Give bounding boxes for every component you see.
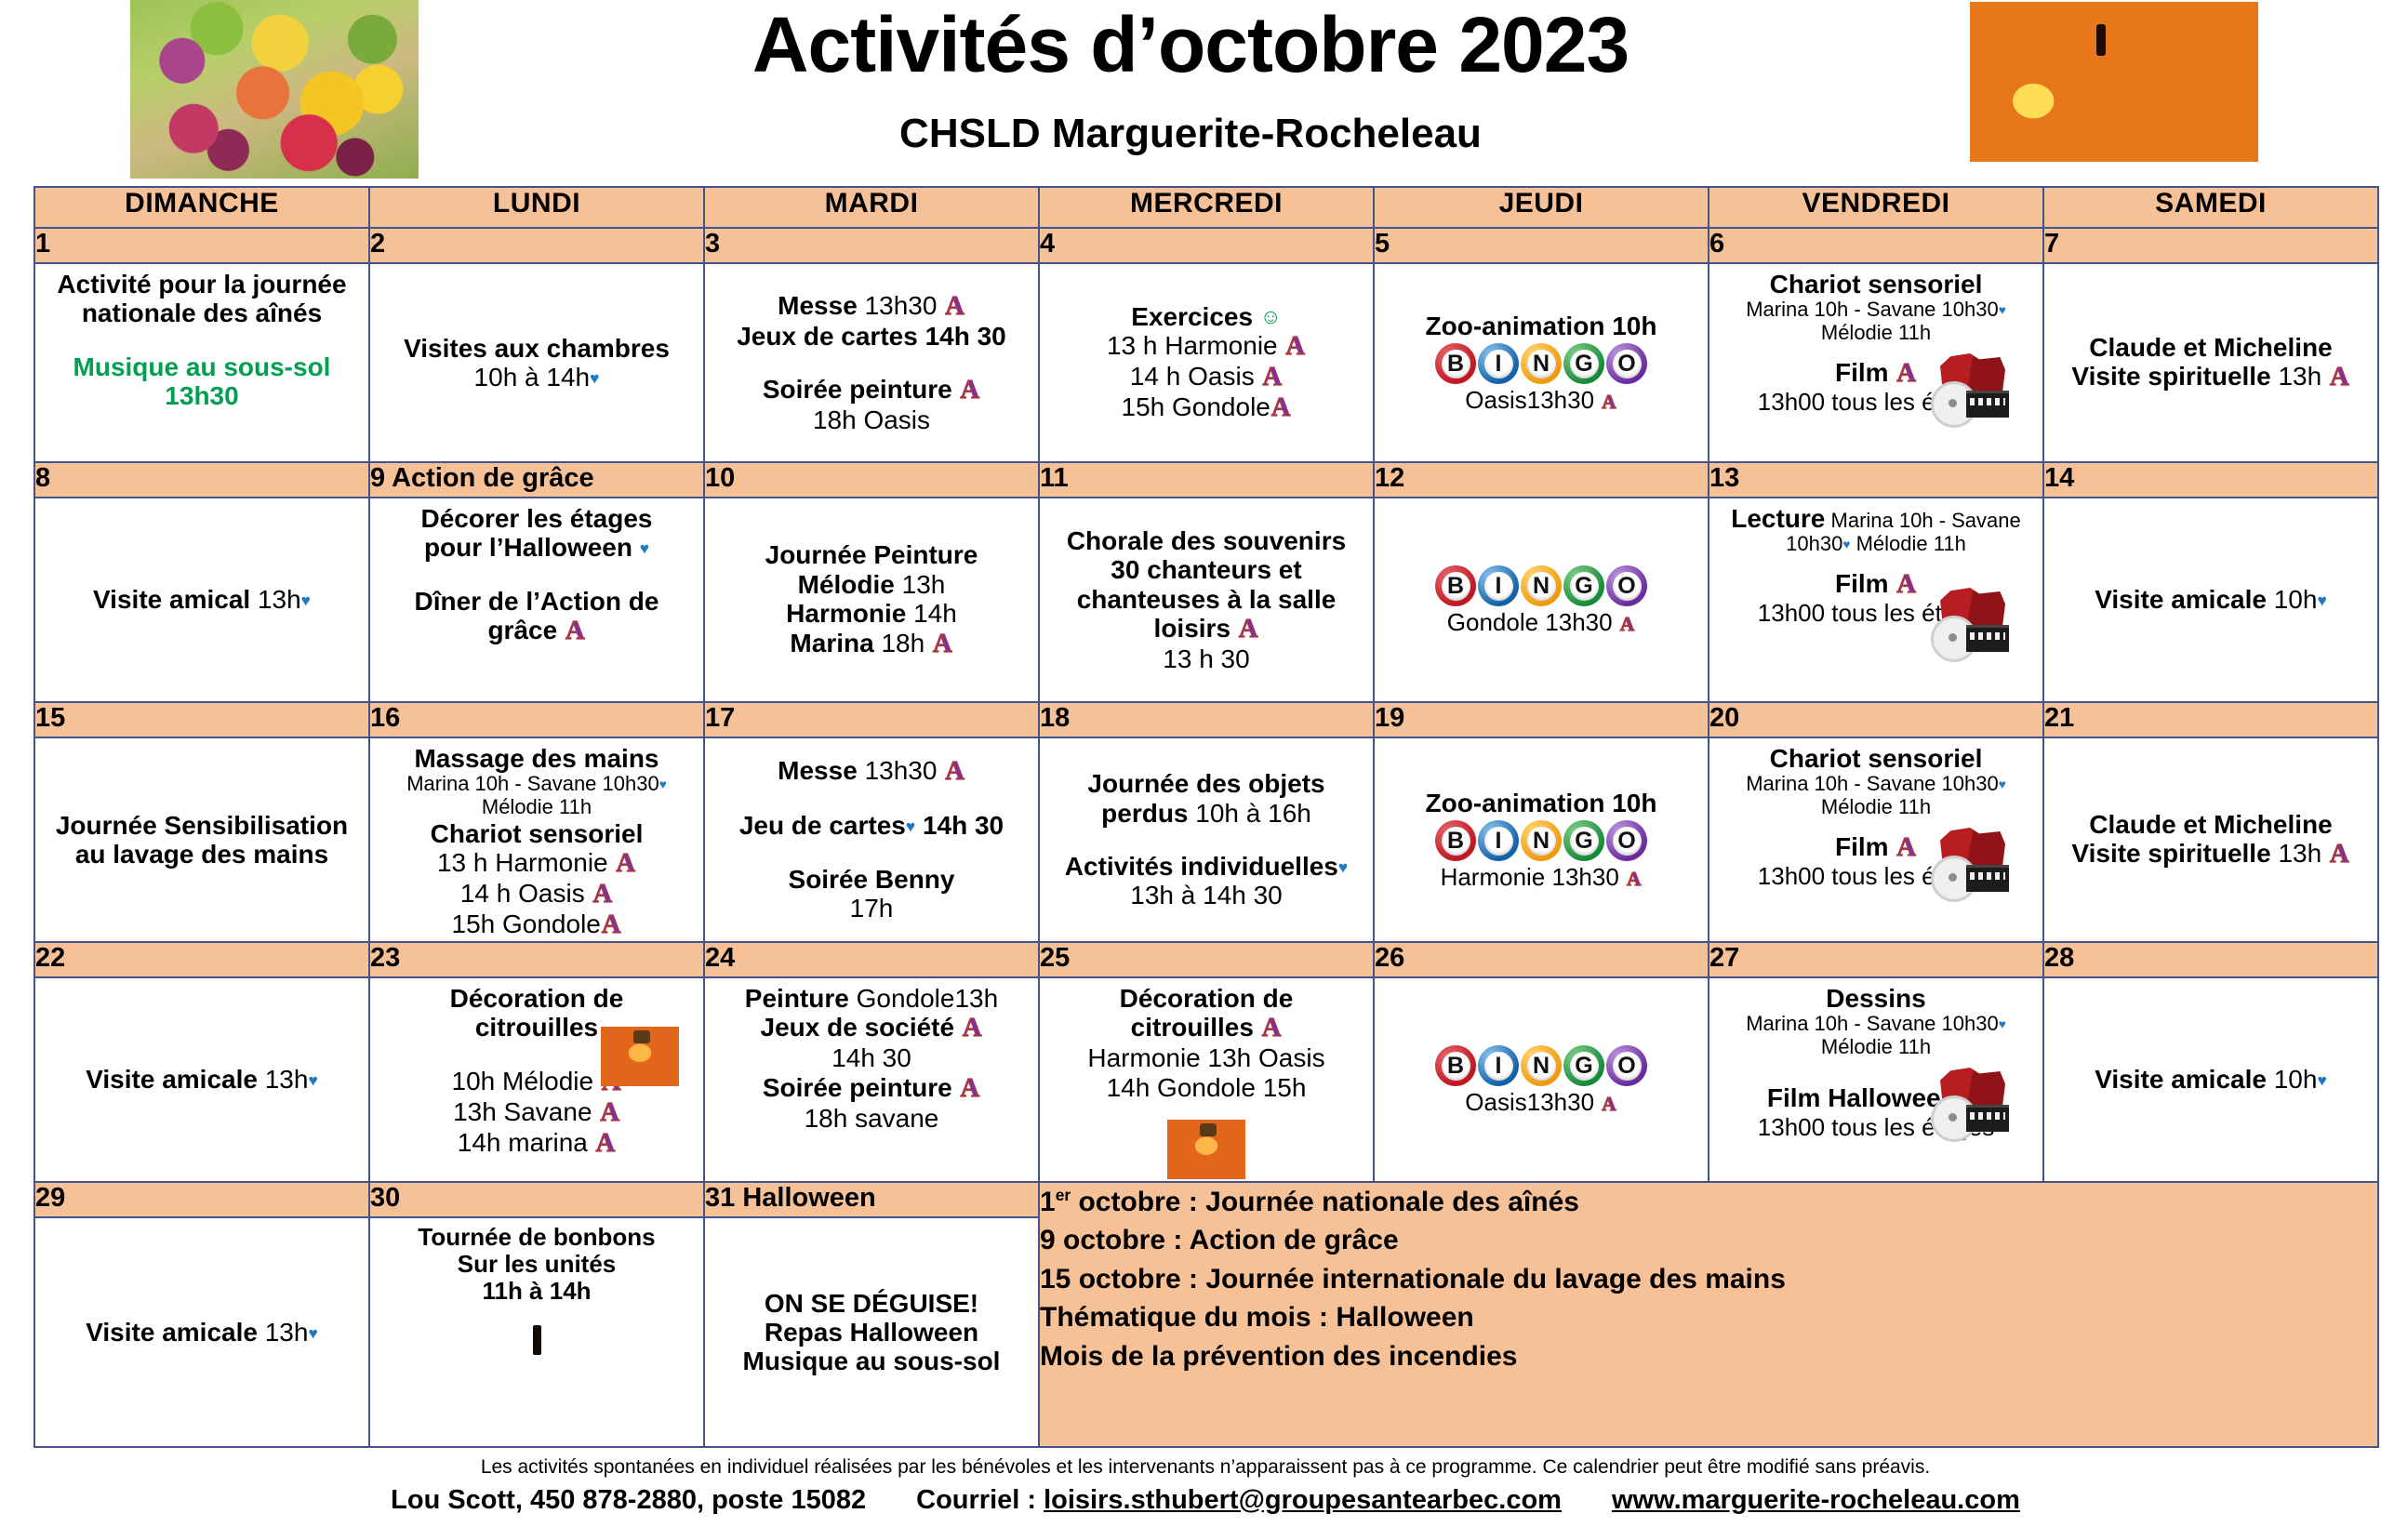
heart-icon: ♥	[308, 1324, 317, 1343]
activity-line: perdus 10h à 16h	[1040, 799, 1373, 828]
activity-line: Journée des objets	[1040, 769, 1373, 798]
activity-line: Soirée Benny	[705, 865, 1038, 894]
activity-line: Visite amical 13h♥	[35, 585, 368, 614]
activity-line: Peinture Gondole13h	[705, 984, 1038, 1013]
activity-line: Soirée peinture A	[705, 1073, 1038, 1104]
day-cell-6[interactable]: Chariot sensoriel Marina 10h - Savane 10…	[1709, 263, 2043, 462]
day-cell-3[interactable]: Messe 13h30 A Jeux de cartes 14h 30 Soir…	[704, 263, 1039, 462]
activity-line: 13h30	[35, 381, 368, 410]
activity-line: Journée Sensibilisation	[35, 811, 368, 840]
film-reel-icon	[1931, 1068, 2011, 1136]
activity-line: citrouilles A	[1040, 1013, 1373, 1043]
bingo-ball-letter: B	[1442, 350, 1470, 378]
activity-line: Claude et Micheline	[2044, 333, 2377, 362]
page-subtitle: CHSLD Marguerite-Rocheleau	[0, 113, 2381, 154]
activity-line: 14h marina A	[370, 1128, 703, 1159]
activity-line: Mélodie 11h	[1709, 322, 2042, 345]
footer-contact-row: Lou Scott, 450 878-2880, poste 15082 Cou…	[33, 1481, 2377, 1516]
day-cell-20[interactable]: Chariot sensoriel Marina 10h - Savane 10…	[1709, 737, 2043, 942]
activity-line: Jeux de société A	[705, 1013, 1038, 1043]
activity-line: Mélodie 11h	[1709, 1036, 2042, 1059]
week2-content-row: Visite amical 13h♥ Décorer les étages po…	[34, 498, 2378, 702]
daynum-8: 8	[34, 462, 369, 498]
footer-disclaimer: Les activités spontanées en individuel r…	[33, 1452, 2377, 1480]
activity-line: Marina 18h A	[705, 629, 1038, 659]
activity-line: Journée Peinture	[705, 540, 1038, 569]
page-footer: Les activités spontanées en individuel r…	[33, 1452, 2377, 1515]
heart-icon: ♥	[1338, 858, 1348, 877]
day-cell-19[interactable]: Zoo-animation 10h B I N G O Harmonie 13h…	[1374, 737, 1709, 942]
activity-line: Gondole 13h30 A	[1375, 609, 1708, 636]
activity-line: Marina 10h - Savane 10h30♥	[370, 773, 703, 796]
day-cell-9[interactable]: Décorer les étages pour l’Halloween ♥ Dî…	[369, 498, 704, 702]
bingo-icon: B I N G O	[1435, 343, 1647, 384]
bingo-ball-letter: B	[1442, 827, 1470, 856]
day-cell-2[interactable]: Visites aux chambres 10h à 14h♥	[369, 263, 704, 462]
heart-icon: ♥	[906, 817, 915, 836]
day-cell-27[interactable]: Dessins Marina 10h - Savane 10h30♥ Mélod…	[1709, 977, 2043, 1182]
day-cell-30[interactable]: Tournée de bonbons Sur les unités 11h à …	[369, 1217, 704, 1447]
day-cell-12[interactable]: B I N G O Gondole 13h30 A	[1374, 498, 1709, 702]
day-cell-26[interactable]: B I N G O Oasis13h30 A	[1374, 977, 1709, 1182]
activity-line: 18h Oasis	[705, 405, 1038, 434]
bingo-ball-letter: I	[1484, 1052, 1513, 1081]
activity-line: Dîner de l’Action de	[370, 587, 703, 616]
activity-line: Visite amicale 10h♥	[2044, 1065, 2377, 1094]
heart-icon: ♥	[659, 778, 667, 792]
marker-a-icon: A	[565, 617, 586, 645]
daynum-18: 18	[1039, 702, 1374, 737]
heart-icon: ♥	[301, 591, 311, 610]
daynum-17: 17	[704, 702, 1039, 737]
activity-line: Soirée peinture A	[705, 375, 1038, 405]
marker-a-icon: A	[1895, 833, 1917, 862]
dow-samedi: SAMEDI	[2043, 187, 2378, 228]
activity-line: Dessins	[1709, 984, 2042, 1013]
daynum-29: 29	[34, 1182, 369, 1217]
activity-line: chanteuses à la salle	[1040, 585, 1373, 614]
activity-line: 18h savane	[705, 1104, 1038, 1133]
marker-a-icon: A	[1619, 613, 1635, 635]
activity-line: Marina 10h - Savane 10h30♥	[1709, 299, 2042, 322]
pumpkin-icon	[601, 1027, 679, 1086]
day-cell-13[interactable]: Lecture Marina 10h - Savane 10h30♥ Mélod…	[1709, 498, 2043, 702]
note-line-5: Mois de la prévention des incendies	[1040, 1337, 2377, 1375]
daynum-22: 22	[34, 942, 369, 977]
film-reel-icon	[1931, 828, 2011, 896]
bingo-ball-letter: B	[1442, 572, 1470, 601]
bingo-ball-letter: N	[1527, 572, 1556, 601]
week5-daynum-row: 29 30 31 Halloween 1er octobre : Journée…	[34, 1182, 2378, 1217]
activity-line: Lecture Marina 10h - Savane	[1709, 504, 2042, 533]
daynum-21: 21	[2043, 702, 2378, 737]
activity-line: Massage des mains	[370, 744, 703, 773]
activity-line: Mélodie 11h	[1709, 796, 2042, 819]
bingo-ball-letter: G	[1570, 572, 1599, 601]
dow-lundi: LUNDI	[369, 187, 704, 228]
activity-line: Chariot sensoriel	[370, 819, 703, 848]
marker-a-icon: A	[2329, 363, 2350, 392]
activity-line: Zoo-animation 10h	[1375, 312, 1708, 340]
page-header: Activités d’octobre 2023 CHSLD Marguerit…	[0, 0, 2381, 186]
activity-line: Visite spirituelle 13h A	[2044, 362, 2377, 392]
activity-line: Activité pour la journée	[35, 270, 368, 299]
heart-icon: ♥	[1999, 1018, 2006, 1032]
activity-line: 15h GondoleA	[1040, 392, 1373, 423]
week2-daynum-row: 8 9 Action de grâce 10 11 12 13 14	[34, 462, 2378, 498]
smiley-icon: ☺	[1260, 305, 1282, 328]
day-cell-22[interactable]: Visite amicale 13h♥	[34, 977, 369, 1182]
day-cell-28[interactable]: Visite amicale 10h♥	[2043, 977, 2378, 1182]
daynum-11: 11	[1039, 462, 1374, 498]
activity-line: 30 chanteurs et	[1040, 555, 1373, 584]
day-cell-8[interactable]: Visite amical 13h♥	[34, 498, 369, 702]
activity-line: Décoration de	[1040, 984, 1373, 1013]
heart-icon: ♥	[1999, 304, 2006, 318]
daynum-14: 14	[2043, 462, 2378, 498]
day-cell-31[interactable]: ON SE DÉGUISE! Repas Halloween Musique a…	[704, 1217, 1039, 1447]
bingo-ball-letter: G	[1570, 1052, 1599, 1081]
day-cell-15[interactable]: Journée Sensibilisation au lavage des ma…	[34, 737, 369, 942]
activity-line: Harmonie 13h Oasis	[1040, 1043, 1373, 1072]
marker-a-icon: A	[944, 292, 965, 321]
daynum-5: 5	[1374, 228, 1709, 263]
page-title: Activités d’octobre 2023	[0, 6, 2381, 84]
note-line-3: 15 octobre : Journée internationale du l…	[1040, 1260, 2377, 1298]
bingo-ball-letter: N	[1527, 1052, 1556, 1081]
marker-a-icon: A	[1261, 1014, 1283, 1042]
week1-content-row: Activité pour la journée nationale des a…	[34, 263, 2378, 462]
monthly-notes-panel: 1er octobre : Journée nationale des aîné…	[1039, 1182, 2378, 1447]
day-cell-5[interactable]: Zoo-animation 10h B I N G O Oasis13h30 A	[1374, 263, 1709, 462]
marker-a-icon: A	[1601, 391, 1616, 413]
marker-a-icon: A	[944, 757, 965, 786]
note-line-4: Thématique du mois : Halloween	[1040, 1298, 2377, 1336]
marker-a-icon: A	[1284, 332, 1306, 361]
activity-line: 17h	[705, 894, 1038, 923]
footer-email-block: Courriel : loisirs.sthubert@groupesantea…	[916, 1485, 1562, 1516]
activity-line: Messe 13h30 A	[705, 291, 1038, 322]
activity-line: Mélodie 13h	[705, 570, 1038, 599]
film-reel-icon	[1931, 353, 2011, 422]
halloween-pumpkins-photo	[441, 1308, 632, 1446]
daynum-27: 27	[1709, 942, 2043, 977]
daynum-15: 15	[34, 702, 369, 737]
week1-daynum-row: 1 2 3 4 5 6 7	[34, 228, 2378, 263]
marker-a-icon: A	[615, 849, 636, 878]
activity-line: 11h à 14h	[370, 1278, 703, 1305]
footer-contact-name: Lou Scott, 450 878-2880, poste 15082	[391, 1485, 866, 1516]
week4-content-row: Visite amicale 13h♥ Décoration de citrou…	[34, 977, 2378, 1182]
activity-line: Zoo-animation 10h	[1375, 789, 1708, 817]
dow-jeudi: JEUDI	[1374, 187, 1709, 228]
activity-line: Visite amicale 13h♥	[35, 1318, 368, 1347]
activity-line: Marina 10h - Savane 10h30♥	[1709, 1013, 2042, 1036]
activity-line: Oasis13h30 A	[1375, 387, 1708, 414]
bingo-icon: B I N G O	[1435, 820, 1647, 861]
note-line-1: 1er octobre : Journée nationale des aîné…	[1040, 1183, 2377, 1221]
bingo-ball-letter: O	[1613, 572, 1642, 601]
activity-line: Oasis13h30 A	[1375, 1089, 1708, 1116]
bingo-ball-letter: O	[1613, 827, 1642, 856]
heart-icon: ♥	[2317, 591, 2326, 610]
activity-line: Activités individuelles♥	[1040, 852, 1373, 881]
daynum-25: 25	[1039, 942, 1374, 977]
daynum-31: 31 Halloween	[704, 1182, 1039, 1217]
heart-icon: ♥	[1999, 778, 2006, 792]
activity-line: Chorale des souvenirs	[1040, 526, 1373, 555]
daynum-1: 1	[34, 228, 369, 263]
heart-icon: ♥	[1842, 538, 1850, 552]
activity-line: grâce A	[370, 616, 703, 646]
activity-line: 14 h Oasis A	[370, 879, 703, 909]
activity-line: Décorer les étages	[370, 504, 703, 533]
daynum-10: 10	[704, 462, 1039, 498]
activity-line: Musique au sous-sol	[35, 352, 368, 381]
day-cell-11[interactable]: Chorale des souvenirs 30 chanteurs et ch…	[1039, 498, 1374, 702]
activity-line: Musique au sous-sol	[705, 1347, 1038, 1375]
activity-line: 14 h Oasis A	[1040, 362, 1373, 392]
marker-a-icon: A	[1895, 570, 1917, 599]
activity-line: ON SE DÉGUISE!	[705, 1289, 1038, 1318]
day-cell-25[interactable]: Décoration de citrouilles A Harmonie 13h…	[1039, 977, 1374, 1182]
daynum-30: 30	[369, 1182, 704, 1217]
daynum-6: 6	[1709, 228, 2043, 263]
daynum-13: 13	[1709, 462, 2043, 498]
activity-line: 13 h Harmonie A	[370, 848, 703, 879]
daynum-2: 2	[369, 228, 704, 263]
marker-a-icon: A	[1262, 363, 1284, 392]
activity-line: 10h30♥ Mélodie 11h	[1709, 533, 2042, 556]
marker-a-icon: A	[960, 1074, 981, 1103]
activity-line: Visites aux chambres	[370, 334, 703, 363]
bingo-ball-letter: G	[1570, 827, 1599, 856]
activity-line: Jeux de cartes 14h 30	[705, 322, 1038, 351]
daynum-23: 23	[369, 942, 704, 977]
bingo-ball-letter: O	[1613, 1052, 1642, 1081]
daynum-7: 7	[2043, 228, 2378, 263]
heart-icon: ♥	[590, 369, 599, 388]
daynum-9: 9 Action de grâce	[369, 462, 704, 498]
day-cell-16[interactable]: Massage des mains Marina 10h - Savane 10…	[369, 737, 704, 942]
marker-a-icon: A	[601, 910, 622, 939]
activity-line: Harmonie 13h30 A	[1375, 864, 1708, 891]
bingo-ball-letter: O	[1613, 350, 1642, 378]
bingo-ball-letter: I	[1484, 827, 1513, 856]
day-cell-21[interactable]: Claude et Micheline Visite spirituelle 1…	[2043, 737, 2378, 942]
activity-line: Visite amicale 13h♥	[35, 1065, 368, 1094]
activity-line: 13 h 30	[1040, 644, 1373, 673]
film-reel-icon	[1931, 588, 2011, 657]
marker-a-icon: A	[960, 376, 981, 405]
activity-line: 13h Savane A	[370, 1097, 703, 1128]
marker-a-icon: A	[595, 1129, 617, 1158]
activity-line: Chariot sensoriel	[1709, 270, 2042, 299]
heart-icon: ♥	[2317, 1071, 2326, 1090]
heart-icon: ♥	[308, 1071, 317, 1090]
activity-line: 13 h Harmonie A	[1040, 331, 1373, 362]
activity-line: Visite spirituelle 13h A	[2044, 839, 2377, 870]
marker-a-icon: A	[1626, 868, 1642, 890]
week4-daynum-row: 22 23 24 25 26 27 28	[34, 942, 2378, 977]
activity-line: Exercices ☺	[1040, 302, 1373, 331]
marker-a-icon: A	[962, 1014, 983, 1042]
activity-line: nationale des aînés	[35, 299, 368, 327]
daynum-19: 19	[1374, 702, 1709, 737]
activities-calendar: DIMANCHE LUNDI MARDI MERCREDI JEUDI VEND…	[33, 186, 2379, 1448]
activity-line: Mélodie 11h	[370, 796, 703, 819]
day-cell-1[interactable]: Activité pour la journée nationale des a…	[34, 263, 369, 462]
day-of-week-header-row: DIMANCHE LUNDI MARDI MERCREDI JEUDI VEND…	[34, 187, 2378, 228]
activity-line: Harmonie 14h	[705, 599, 1038, 628]
dow-vendredi: VENDREDI	[1709, 187, 2043, 228]
day-cell-18[interactable]: Journée des objets perdus 10h à 16h Acti…	[1039, 737, 1374, 942]
dow-mardi: MARDI	[704, 187, 1039, 228]
activity-line: Messe 13h30 A	[705, 756, 1038, 787]
marker-a-icon: A	[599, 1098, 620, 1127]
daynum-16: 16	[369, 702, 704, 737]
bingo-ball-letter: N	[1527, 827, 1556, 856]
day-cell-24[interactable]: Peinture Gondole13h Jeux de société A 14…	[704, 977, 1039, 1182]
activity-line: Chariot sensoriel	[1709, 744, 2042, 773]
day-cell-7[interactable]: Claude et Micheline Visite spirituelle 1…	[2043, 263, 2378, 462]
activity-line: Jeu de cartes♥ 14h 30	[705, 811, 1038, 840]
activity-line: Repas Halloween	[705, 1318, 1038, 1347]
bingo-ball-letter: I	[1484, 350, 1513, 378]
marker-a-icon: A	[1895, 359, 1917, 388]
note-line-2: 9 octobre : Action de grâce	[1040, 1221, 2377, 1259]
daynum-20: 20	[1709, 702, 2043, 737]
day-cell-23[interactable]: Décoration de citrouilles 10h Mélodie A …	[369, 977, 704, 1182]
day-cell-14[interactable]: Visite amicale 10h♥	[2043, 498, 2378, 702]
week3-daynum-row: 15 16 17 18 19 20 21	[34, 702, 2378, 737]
dow-mercredi: MERCREDI	[1039, 187, 1374, 228]
marker-a-icon: A	[1270, 393, 1292, 422]
dow-dimanche: DIMANCHE	[34, 187, 369, 228]
marker-a-icon: A	[592, 880, 614, 909]
day-cell-4[interactable]: Exercices ☺ 13 h Harmonie A 14 h Oasis A…	[1039, 263, 1374, 462]
marker-a-icon: A	[2329, 840, 2350, 869]
bingo-ball-letter: G	[1570, 350, 1599, 378]
bingo-ball-letter: N	[1527, 350, 1556, 378]
daynum-12: 12	[1374, 462, 1709, 498]
bingo-ball-letter: I	[1484, 572, 1513, 601]
footer-email-link[interactable]: loisirs.sthubert@groupesantearbec.com	[1044, 1485, 1562, 1515]
activity-line: 13h à 14h 30	[1040, 881, 1373, 909]
daynum-3: 3	[704, 228, 1039, 263]
activity-line: Sur les unités	[370, 1251, 703, 1278]
pumpkin-icon	[1167, 1120, 1245, 1179]
activity-line: Marina 10h - Savane 10h30♥	[1709, 773, 2042, 796]
activity-line: pour l’Halloween ♥	[370, 533, 703, 562]
daynum-26: 26	[1374, 942, 1709, 977]
activity-line: Claude et Micheline	[2044, 810, 2377, 839]
day-cell-10[interactable]: Journée Peinture Mélodie 13h Harmonie 14…	[704, 498, 1039, 702]
activity-line: au lavage des mains	[35, 840, 368, 869]
bingo-icon: B I N G O	[1435, 1045, 1647, 1086]
activity-line: Décoration de	[370, 984, 703, 1013]
daynum-4: 4	[1039, 228, 1374, 263]
footer-website-link[interactable]: www.marguerite-rocheleau.com	[1612, 1485, 2020, 1516]
activity-line: Tournée de bonbons	[370, 1224, 703, 1251]
week3-content-row: Journée Sensibilisation au lavage des ma…	[34, 737, 2378, 942]
daynum-28: 28	[2043, 942, 2378, 977]
bingo-ball-letter: B	[1442, 1052, 1470, 1081]
activity-line: 10h à 14h♥	[370, 363, 703, 392]
activity-line: Visite amicale 10h♥	[2044, 585, 2377, 614]
heart-icon: ♥	[640, 539, 649, 558]
day-cell-17[interactable]: Messe 13h30 A Jeu de cartes♥ 14h 30 Soir…	[704, 737, 1039, 942]
marker-a-icon: A	[932, 630, 953, 658]
activity-line: 14h Gondole 15h	[1040, 1073, 1373, 1102]
marker-a-icon: A	[1601, 1093, 1616, 1115]
activity-line: 14h 30	[705, 1043, 1038, 1072]
activity-line: 15h GondoleA	[370, 909, 703, 940]
activity-line: loisirs A	[1040, 614, 1373, 644]
bingo-icon: B I N G O	[1435, 565, 1647, 606]
marker-a-icon: A	[1238, 615, 1259, 644]
day-cell-29[interactable]: Visite amicale 13h♥	[34, 1217, 369, 1447]
daynum-24: 24	[704, 942, 1039, 977]
